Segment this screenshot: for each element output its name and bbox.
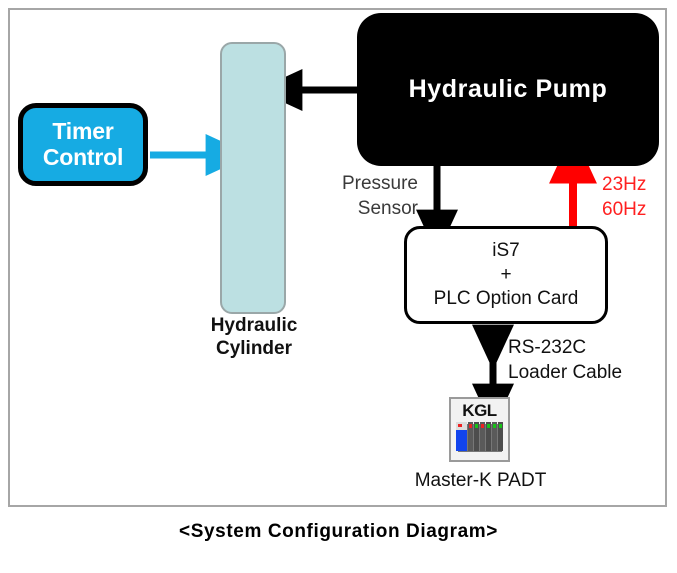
timer-control-label-line2: Control: [43, 145, 123, 171]
hydraulic-pump-label: Hydraulic Pump: [409, 75, 608, 104]
is7-line3: PLC Option Card: [434, 287, 579, 311]
kgl-label: KGL: [462, 402, 496, 419]
plc-rack-icon: [455, 420, 505, 454]
timer-control-label: Timer Control: [43, 119, 123, 171]
node-hydraulic-cylinder-label: Hydraulic Cylinder: [190, 314, 318, 360]
label-frequency: 23Hz 60Hz: [602, 172, 672, 222]
label-rs232c-loader-cable: RS-232C Loader Cable: [508, 336, 668, 385]
is7-line2: +: [500, 263, 511, 287]
frequency-line1: 23Hz: [602, 172, 672, 197]
hydraulic-cylinder-label-line2: Cylinder: [190, 337, 318, 360]
frequency-line2: 60Hz: [602, 197, 672, 222]
is7-line1: iS7: [492, 239, 519, 263]
diagram-canvas: Timer Control Hydraulic Cylinder Hydraul…: [0, 0, 677, 573]
node-kgl-icon[interactable]: KGL: [449, 397, 510, 462]
node-timer-control[interactable]: Timer Control: [18, 103, 148, 186]
node-hydraulic-cylinder[interactable]: [220, 42, 286, 314]
node-is7-plc-option-card[interactable]: iS7 + PLC Option Card: [404, 226, 608, 324]
hydraulic-cylinder-label-line1: Hydraulic: [190, 314, 318, 337]
timer-control-label-line1: Timer: [43, 119, 123, 145]
pressure-sensor-line1: Pressure: [318, 172, 418, 197]
label-pressure-sensor: Pressure Sensor: [318, 172, 418, 221]
node-hydraulic-pump[interactable]: Hydraulic Pump: [357, 13, 659, 166]
rs232-line1: RS-232C: [508, 336, 668, 361]
pressure-sensor-line2: Sensor: [318, 197, 418, 222]
rs232-line2: Loader Cable: [508, 361, 668, 386]
label-master-k-padt: Master-K PADT: [398, 470, 563, 492]
diagram-caption: <System Configuration Diagram>: [0, 521, 677, 543]
